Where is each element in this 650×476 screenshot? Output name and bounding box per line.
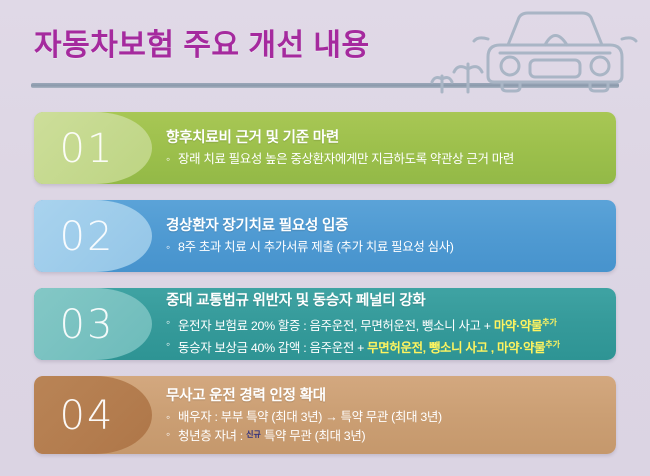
item-title: 향후치료비 근거 및 기준 마련 [166,128,602,148]
item-number: 02 [60,217,115,257]
bullet-text: 8주 초과 치료 시 추가서류 제출 (추가 치료 필요성 심사) [178,240,454,254]
page-title: 자동차보험 주요 개선 내용 [34,26,370,66]
item-title: 경상환자 장기치료 필요성 입증 [166,216,602,236]
car-front-illustration-icon [430,2,642,94]
bullet-superscript: 추가 [542,318,557,327]
item-bullets: 배우자 : 부부 특약 (최대 3년) → 특약 무관 (최대 3년) 청년층 … [166,409,602,445]
item-number-badge: 03 [34,288,152,360]
list-item-bullet: 청년층 자녀 : 신규 특약 무관 (최대 3년) [166,426,602,445]
bullet-highlight: 무면허운전, 뺑소니 사고 , 마약·약물 [367,341,545,355]
item-bullets: 8주 초과 치료 시 추가서류 제출 (추가 치료 필요성 심사) [166,239,602,256]
infographic-poster: 자동차보험 주요 개선 내용 [0,0,650,476]
list-item-bullet: 동승자 보상금 40% 감액 : 음주운전 + 무면허운전, 뺑소니 사고 , … [166,336,602,357]
item-bullets: 장래 치료 필요성 높은 중상환자에게만 지급하도록 약관상 근거 마련 [166,151,602,168]
list-item-bullet: 장래 치료 필요성 높은 중상환자에게만 지급하도록 약관상 근거 마련 [166,151,602,168]
item-number: 03 [60,305,115,345]
item-content: 중대 교통법규 위반자 및 동승자 페널티 강화 운전자 보험료 20% 할증 … [166,288,602,360]
bullet-text: 청년층 자녀 : [178,429,246,443]
list-item-03[interactable]: 03 중대 교통법규 위반자 및 동승자 페널티 강화 운전자 보험료 20% … [34,288,616,360]
list-item-bullet: 운전자 보험료 20% 할증 : 음주운전, 무면허운전, 뺑소니 사고 + 마… [166,314,602,335]
bullet-text: 특약 무관 (최대 3년) [261,429,366,443]
item-content: 경상환자 장기치료 필요성 입증 8주 초과 치료 시 추가서류 제출 (추가 … [166,200,602,272]
item-title: 중대 교통법규 위반자 및 동승자 페널티 강화 [166,291,602,311]
list-item-bullet: 8주 초과 치료 시 추가서류 제출 (추가 치료 필요성 심사) [166,239,602,256]
item-number: 04 [60,396,115,436]
item-number-badge: 02 [34,200,152,272]
list-item-01[interactable]: 01 향후치료비 근거 및 기준 마련 장래 치료 필요성 높은 중상환자에게만… [34,112,616,184]
list-item-02[interactable]: 02 경상환자 장기치료 필요성 입증 8주 초과 치료 시 추가서류 제출 (… [34,200,616,272]
bullet-text: 운전자 보험료 20% 할증 : 음주운전, 무면허운전, 뺑소니 사고 + [178,320,494,334]
new-tag: 신규 [246,426,261,443]
improvement-list: 01 향후치료비 근거 및 기준 마련 장래 치료 필요성 높은 중상환자에게만… [0,112,650,470]
item-content: 향후치료비 근거 및 기준 마련 장래 치료 필요성 높은 중상환자에게만 지급… [166,112,602,184]
item-number: 01 [60,129,115,169]
bullet-text: 배우자 : 부부 특약 (최대 3년) → 특약 무관 (최대 3년) [178,410,442,424]
item-number-badge: 04 [34,376,152,454]
item-bullets: 운전자 보험료 20% 할증 : 음주운전, 무면허운전, 뺑소니 사고 + 마… [166,314,602,356]
list-item-04[interactable]: 04 무사고 운전 경력 인정 확대 배우자 : 부부 특약 (최대 3년) →… [34,376,616,454]
bullet-superscript: 추가 [545,340,560,349]
header: 자동차보험 주요 개선 내용 [0,0,650,108]
title-underline-rule [31,83,619,88]
bullet-text: 동승자 보상금 40% 감액 : 음주운전 + [178,341,367,355]
item-title: 무사고 운전 경력 인정 확대 [166,386,602,406]
list-item-bullet: 배우자 : 부부 특약 (최대 3년) → 특약 무관 (최대 3년) [166,409,602,426]
bullet-highlight: 마약·약물 [494,320,542,334]
item-number-badge: 01 [34,112,152,184]
item-content: 무사고 운전 경력 인정 확대 배우자 : 부부 특약 (최대 3년) → 특약… [166,376,602,454]
bullet-text: 장래 치료 필요성 높은 중상환자에게만 지급하도록 약관상 근거 마련 [178,152,514,166]
